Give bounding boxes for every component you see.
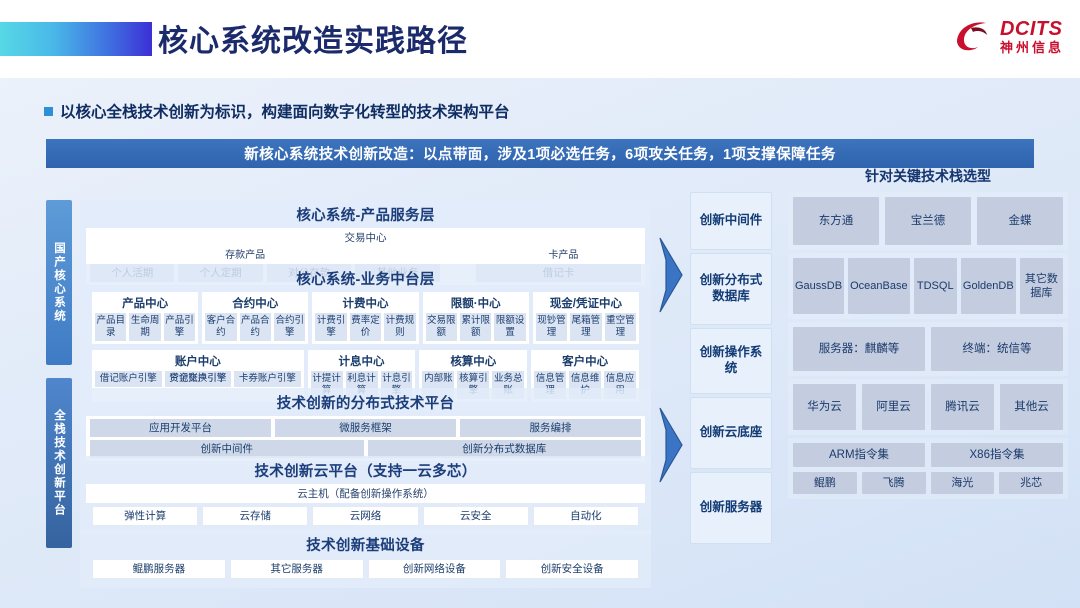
center-item[interactable]: 费率定价	[350, 313, 381, 341]
business-row-1: 产品中心 产品目录 生命周期 产品引擎 合约中心 客户合约 产品合约 合约引擎	[86, 292, 645, 344]
dcits-swirl-icon	[953, 18, 993, 54]
innovation-category-column: 创新中间件 创新分布式数据库 创新操作系统 创新云底座 创新服务器	[690, 192, 772, 547]
stack-item-chip[interactable]: 鲲鹏	[793, 472, 857, 494]
center-item[interactable]: 交易限额	[426, 313, 457, 341]
stack-item-database[interactable]: GoldenDB	[961, 258, 1016, 314]
stack-item-middleware[interactable]: 金蝶	[977, 197, 1063, 245]
group-name-card: 卡产品	[486, 250, 641, 262]
stack-item-chip[interactable]: 飞腾	[862, 472, 926, 494]
section-subtitle-text: 以核心全栈技术创新为标识，构建面向数字化转型的技术架构平台	[60, 100, 510, 122]
center-item[interactable]: 产品引擎	[164, 313, 195, 341]
center-item[interactable]: 累计限额	[460, 313, 491, 341]
stack-group-cloud: 华为云 阿里云 腾讯云 其他云	[788, 379, 1068, 435]
center-item[interactable]: 计费规则	[384, 313, 415, 341]
category-innovative-os[interactable]: 创新操作系统	[690, 328, 772, 394]
center-item[interactable]: 借记账户引擎	[95, 371, 162, 387]
arrow-right-upper	[656, 236, 686, 314]
left-architecture-panel: 国产核心系统 全栈技术创新平台 核心系统-产品服务层 交易中心 存款产品 卡产品…	[46, 192, 651, 558]
brand-logo: DCITS 神州信息	[953, 18, 1064, 54]
stack-item-database[interactable]: GaussDB	[793, 258, 844, 314]
category-innovative-distributed-database[interactable]: 创新分布式数据库	[690, 253, 772, 325]
stack-item-database[interactable]: 其它数据库	[1020, 258, 1063, 314]
infra-item[interactable]: 其它服务器	[230, 559, 364, 579]
trade-center-label: 交易中心	[86, 228, 645, 247]
stack-group-chips: ARM指令集 X86指令集 鲲鹏 飞腾 海光 兆芯	[788, 438, 1068, 499]
center-title: 合约中心	[205, 294, 305, 313]
stack-item-cloud[interactable]: 阿里云	[862, 384, 925, 430]
business-layer-title: 核心系统-业务中台层	[80, 264, 651, 292]
logo-text-cn: 神州信息	[1000, 41, 1064, 54]
group-infrastructure: 技术创新基础设备 鲲鹏服务器 其它服务器 创新网络设备 创新安全设备	[80, 530, 651, 588]
tech-stack-title: 针对关键技术栈选型	[788, 166, 1068, 186]
center-item[interactable]: 客户合约	[205, 313, 236, 341]
center-item[interactable]: 尾箱管理	[570, 313, 601, 341]
section-subtitle: 以核心全栈技术创新为标识，构建面向数字化转型的技术架构平台	[44, 100, 510, 122]
category-innovative-server[interactable]: 创新服务器	[690, 472, 772, 544]
vertical-label-fullstack-platform: 全栈技术创新平台	[46, 378, 72, 548]
stack-item-database[interactable]: TDSQL	[914, 258, 957, 314]
cloud-item[interactable]: 云存储	[202, 506, 308, 526]
infra-layer-title: 技术创新基础设备	[80, 530, 651, 558]
center-title: 限额·中心	[426, 294, 526, 313]
tech-stack-selection-panel: 针对关键技术栈选型 东方通 宝兰德 金蝶 GaussDB OceanBase T…	[788, 166, 1068, 502]
center-title: 产品中心	[95, 294, 195, 313]
cloud-item[interactable]: 云网络	[312, 506, 418, 526]
tech-layer-title: 技术创新的分布式技术平台	[80, 388, 651, 416]
center-item[interactable]: 计费引擎	[315, 313, 346, 341]
cloud-item[interactable]: 云安全	[423, 506, 529, 526]
center-title: 计息中心	[311, 352, 413, 371]
group-name-deposit: 存款产品	[90, 250, 400, 262]
center-title: 账户中心	[95, 352, 301, 371]
stack-item-chip[interactable]: 兆芯	[999, 472, 1063, 494]
bullet-square-icon	[44, 107, 53, 116]
stack-item-cloud[interactable]: 腾讯云	[931, 384, 994, 430]
cloud-layer-title: 技术创新云平台（支持一云多芯）	[80, 456, 651, 484]
stack-group-middleware: 东方通 宝兰德 金蝶	[788, 192, 1068, 250]
tech-item[interactable]: 微服务框架	[275, 419, 456, 437]
stack-group-database: GaussDB OceanBase TDSQL GoldenDB 其它数据库	[788, 253, 1068, 319]
stack-item-cloud[interactable]: 华为云	[793, 384, 856, 430]
center-item[interactable]: 生命周期	[129, 313, 160, 341]
infra-item[interactable]: 鲲鹏服务器	[92, 559, 226, 579]
highlight-banner-text: 新核心系统技术创新改造：以点带面，涉及1项必选任务，6项攻关任务，1项支撑保障任…	[244, 143, 836, 164]
center-card-product[interactable]: 产品中心 产品目录 生命周期 产品引擎	[92, 292, 198, 344]
center-title: 计费中心	[315, 294, 415, 313]
center-item[interactable]: 合约引擎	[274, 313, 305, 341]
stack-item-chip[interactable]: 海光	[931, 472, 995, 494]
stack-item-database[interactable]: OceanBase	[848, 258, 909, 314]
cloud-item[interactable]: 弹性计算	[92, 506, 198, 526]
stack-item-middleware[interactable]: 东方通	[793, 197, 879, 245]
center-title: 客户中心	[534, 352, 636, 371]
center-item[interactable]: 产品合约	[240, 313, 271, 341]
header-accent-bar	[0, 22, 152, 56]
stack-item-os-terminal[interactable]: 终端：统信等	[931, 327, 1063, 371]
highlight-banner: 新核心系统技术创新改造：以点带面，涉及1项必选任务，6项攻关任务，1项支撑保障任…	[46, 139, 1034, 168]
stack-item-middleware[interactable]: 宝兰德	[885, 197, 971, 245]
diagram-stage: 国产核心系统 全栈技术创新平台 核心系统-产品服务层 交易中心 存款产品 卡产品…	[0, 178, 1080, 568]
tech-item[interactable]: 应用开发平台	[90, 419, 271, 437]
center-card-contract[interactable]: 合约中心 客户合约 产品合约 合约引擎	[202, 292, 308, 344]
center-item[interactable]: 重空管理	[605, 313, 636, 341]
stack-item-cloud[interactable]: 其他云	[1000, 384, 1063, 430]
group-tech-distributed-platform: 技术创新的分布式技术平台 应用开发平台 微服务框架 服务编排 创新中间件 创新分…	[80, 388, 651, 465]
cloud-items-box: 弹性计算 云存储 云网络 云安全 自动化	[86, 503, 645, 531]
category-innovative-cloud-base[interactable]: 创新云底座	[690, 397, 772, 469]
center-card-limit[interactable]: 限额·中心 交易限额 累计限额 限额设置	[423, 292, 529, 344]
infra-item[interactable]: 创新安全设备	[505, 559, 639, 579]
stack-item-isa-x86[interactable]: X86指令集	[931, 443, 1063, 467]
vertical-label-core-system: 国产核心系统	[46, 200, 72, 365]
center-item[interactable]: 卡券账户引擎	[234, 371, 301, 387]
center-card-billing[interactable]: 计费中心 计费引擎 费率定价 计费规则	[312, 292, 418, 344]
category-innovative-middleware[interactable]: 创新中间件	[690, 192, 772, 250]
center-title: 核算中心	[422, 352, 524, 371]
center-item[interactable]: 产品目录	[95, 313, 126, 341]
tech-item[interactable]: 服务编排	[460, 419, 641, 437]
stack-group-os: 服务器：麒麟等 终端：统信等	[788, 322, 1068, 376]
stack-item-os-server[interactable]: 服务器：麒麟等	[793, 327, 925, 371]
center-title: 现金/凭证中心	[536, 294, 636, 313]
product-group-names-row: 存款产品 卡产品	[90, 250, 641, 262]
center-card-cash-voucher[interactable]: 现金/凭证中心 现钞管理 尾箱管理 重空管理	[533, 292, 639, 344]
fund-exchange-engine-overlay: 资金交换引擎	[169, 370, 226, 384]
infra-items-box: 鲲鹏服务器 其它服务器 创新网络设备 创新安全设备	[86, 558, 645, 584]
page-header: 核心系统改造实践路径 DCITS 神州信息	[0, 0, 1080, 78]
stack-item-isa-arm[interactable]: ARM指令集	[793, 443, 925, 467]
product-layer-title: 核心系统-产品服务层	[80, 200, 651, 228]
logo-text-en: DCITS	[1000, 19, 1064, 39]
tech-rows-box: 应用开发平台 微服务框架 服务编排 创新中间件 创新分布式数据库	[86, 416, 645, 461]
cloud-item[interactable]: 自动化	[533, 506, 639, 526]
center-item[interactable]: 现钞管理	[536, 313, 567, 341]
infra-item[interactable]: 创新网络设备	[368, 559, 502, 579]
arrow-right-lower	[656, 406, 686, 484]
center-item[interactable]: 限额设置	[494, 313, 525, 341]
cloud-host-label: 云主机（配备创新操作系统）	[86, 484, 645, 503]
page-title: 核心系统改造实践路径	[158, 16, 468, 60]
group-cloud-platform: 技术创新云平台（支持一云多芯） 云主机（配备创新操作系统） 弹性计算 云存储 云…	[80, 456, 651, 535]
